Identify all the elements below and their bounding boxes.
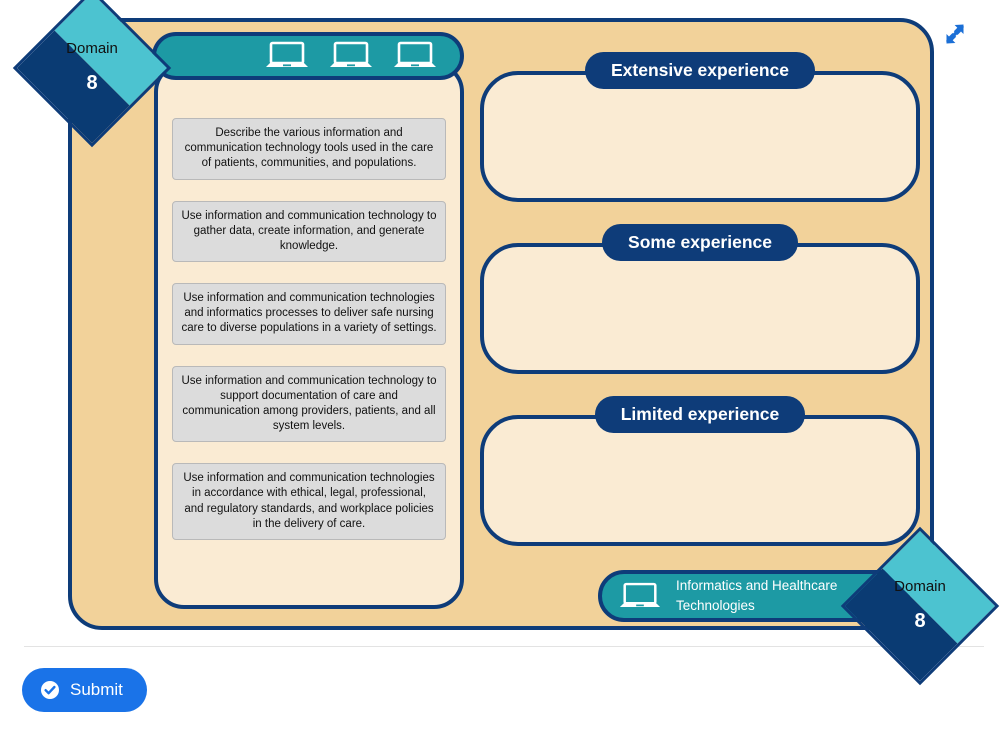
laptop-icon: [264, 41, 310, 71]
list-item[interactable]: Use information and communication techno…: [172, 201, 446, 263]
drop-target-some[interactable]: [480, 243, 920, 374]
divider: [24, 646, 984, 647]
laptop-icon: [392, 41, 438, 71]
drop-zone-extensive: Extensive experience: [480, 52, 920, 202]
list-item[interactable]: Use information and communication techno…: [172, 283, 446, 345]
zone-title: Extensive experience: [585, 52, 815, 89]
domain-icon-bar: [152, 32, 464, 80]
drop-zone-limited: Limited experience: [480, 396, 920, 546]
drag-and-drop-activity: Describe the various information and com…: [68, 18, 934, 630]
drop-zone-some: Some experience: [480, 224, 920, 374]
drop-target-limited[interactable]: [480, 415, 920, 546]
zone-title: Some experience: [602, 224, 798, 261]
submit-label: Submit: [70, 680, 123, 700]
check-circle-icon: [40, 680, 60, 700]
zone-title: Limited experience: [595, 396, 806, 433]
laptop-icon: [328, 41, 374, 71]
draggable-items-panel: Describe the various information and com…: [154, 62, 464, 609]
domain-title: Informatics and Healthcare Technologies: [676, 576, 862, 615]
list-item[interactable]: Use information and communication techno…: [172, 463, 446, 540]
list-item[interactable]: Describe the various information and com…: [172, 118, 446, 180]
list-item[interactable]: Use information and communication techno…: [172, 366, 446, 443]
drop-target-extensive[interactable]: [480, 71, 920, 202]
drop-zones: Extensive experience Some experience Lim…: [480, 52, 920, 572]
laptop-icon: [618, 582, 662, 611]
submit-button[interactable]: Submit: [22, 668, 147, 712]
domain-label-bar: Informatics and Healthcare Technologies: [598, 570, 910, 622]
expand-arrows-icon[interactable]: [935, 14, 975, 54]
